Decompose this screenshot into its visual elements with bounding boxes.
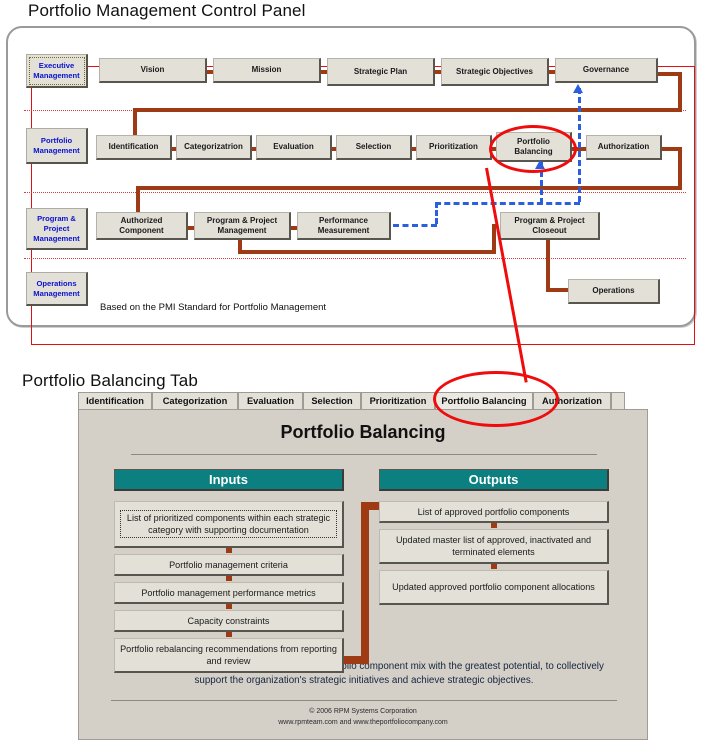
input-item-5[interactable]: Portfolio rebalancing recommendations fr… — [114, 638, 344, 673]
process-box-portfolio-balancing[interactable]: Portfolio Balancing — [496, 132, 572, 162]
process-box-strategic-objectives[interactable]: Strategic Objectives — [441, 58, 549, 86]
page-title-bottom: Portfolio Balancing Tab — [22, 371, 198, 391]
connector-governance-down — [678, 72, 682, 110]
portfolio-balancing-tab-panel: Identification Categorization Evaluation… — [78, 392, 648, 740]
lane-label-program-project-management: Program & Project Management — [26, 208, 88, 250]
feedback-arrow-portfolio-balancing — [535, 160, 545, 169]
copyright-block: © 2006 RPM Systems Corporation www.rpmte… — [79, 706, 647, 728]
feedback-arrow-governance — [573, 84, 583, 93]
process-box-mission[interactable]: Mission — [213, 58, 321, 83]
copyright-line: © 2006 RPM Systems Corporation — [79, 706, 647, 717]
tab-portfolio-balancing[interactable]: Portfolio Balancing — [435, 392, 533, 409]
lane-label-operations-management: Operations Management — [26, 272, 88, 306]
process-box-prioritization[interactable]: Prioritization — [416, 135, 492, 160]
input-item-2[interactable]: Portfolio management criteria — [114, 554, 344, 576]
output-item-1[interactable]: List of approved portfolio components — [379, 501, 609, 523]
process-box-strategic-plan[interactable]: Strategic Plan — [327, 58, 435, 86]
connector-auth-down — [678, 147, 682, 190]
tab-strip: Identification Categorization Evaluation… — [78, 392, 648, 409]
input-item-3[interactable]: Portfolio management performance metrics — [114, 582, 344, 604]
connector-governance-return — [133, 108, 682, 112]
inputs-header: Inputs — [114, 469, 344, 491]
lane-divider-3 — [24, 258, 686, 259]
purpose-divider — [111, 700, 617, 701]
connector-ppm-to-closeout — [238, 250, 496, 254]
websites-line: www.rpmteam.com and www.theportfoliocomp… — [79, 717, 647, 728]
lane-divider-2 — [24, 192, 686, 193]
process-box-governance[interactable]: Governance — [555, 58, 658, 83]
screenshot-root: Portfolio Management Control Panel Portf… — [0, 0, 707, 746]
feedback-line-horizontal — [435, 202, 580, 205]
tab-identification[interactable]: Identification — [78, 392, 152, 409]
output-item-3[interactable]: Updated approved portfolio component all… — [379, 570, 609, 605]
connector-auth-return — [136, 186, 682, 190]
panel-title: Portfolio Balancing — [79, 422, 647, 443]
tab-evaluation[interactable]: Evaluation — [238, 392, 303, 409]
lane-label-executive-management: Executive Management — [26, 54, 88, 88]
process-box-authorized-component[interactable]: Authorized Component — [96, 212, 188, 240]
tab-content-panel: Portfolio Balancing Inputs Outputs List … — [78, 409, 648, 740]
tab-categorization[interactable]: Categorization — [152, 392, 238, 409]
lane-label-portfolio-management: Portfolio Management — [26, 128, 88, 164]
io-connector-vertical — [361, 502, 369, 662]
page-title-top: Portfolio Management Control Panel — [28, 1, 305, 21]
feedback-line-to-performance — [393, 224, 437, 227]
tab-selection[interactable]: Selection — [303, 392, 361, 409]
connector-closeout-to-operations — [546, 288, 570, 292]
input-item-4[interactable]: Capacity constraints — [114, 610, 344, 632]
feedback-line-vertical-right — [578, 88, 581, 202]
process-box-identification[interactable]: Identification — [96, 135, 172, 160]
process-box-program-project-management[interactable]: Program & Project Management — [194, 212, 291, 240]
tab-authorization[interactable]: Authorization — [533, 392, 611, 409]
process-box-selection[interactable]: Selection — [336, 135, 412, 160]
process-box-categorization[interactable]: Categorizatrion — [176, 135, 252, 160]
process-box-evaluation[interactable]: Evaluation — [256, 135, 332, 160]
outputs-header: Outputs — [379, 469, 609, 491]
process-box-vision[interactable]: Vision — [99, 58, 207, 83]
process-box-performance-measurement[interactable]: Performance Measurement — [297, 212, 391, 240]
connector-to-identification — [133, 108, 137, 138]
output-item-2[interactable]: Updated master list of approved, inactiv… — [379, 529, 609, 564]
connector-closeout-down — [546, 240, 550, 291]
tab-spacer — [611, 392, 625, 409]
connector-to-authorized-component — [136, 186, 140, 214]
tab-prioritization[interactable]: Prioritization — [361, 392, 435, 409]
input-item-1[interactable]: List of prioritized components within ea… — [114, 501, 344, 548]
title-divider — [131, 454, 597, 455]
feedback-line-vertical-left — [435, 202, 438, 224]
process-box-program-project-closeout[interactable]: Program & Project Closeout — [500, 212, 600, 240]
process-box-authorization[interactable]: Authorization — [586, 135, 662, 160]
process-box-operations[interactable]: Operations — [568, 279, 660, 304]
pmi-standard-note: Based on the PMI Standard for Portfolio … — [100, 302, 326, 313]
input-item-1-label: List of prioritized components within ea… — [120, 510, 337, 538]
